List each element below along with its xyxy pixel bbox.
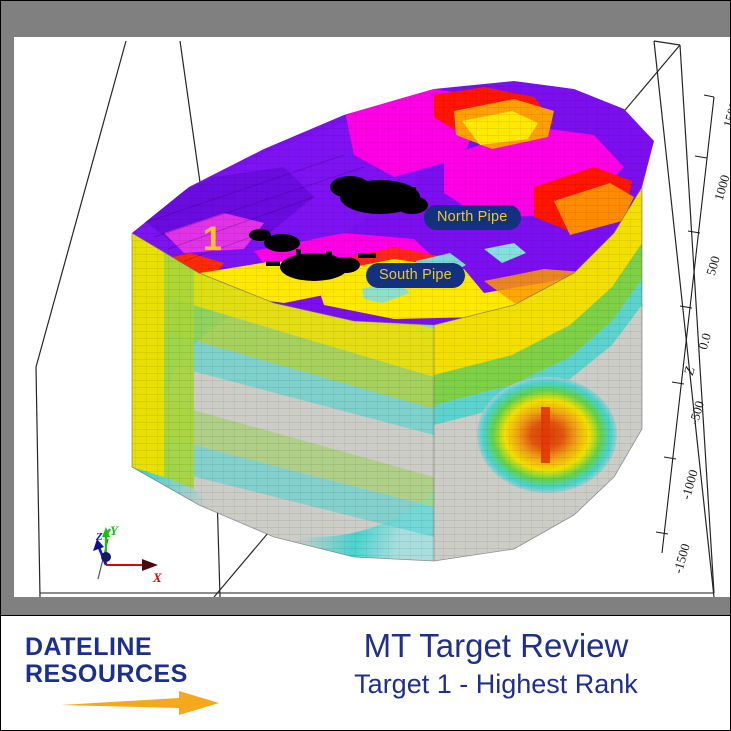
brand-line-1: DATELINE [25, 634, 265, 661]
triad-origin [101, 552, 111, 562]
block-model-graphic [14, 37, 731, 597]
triad-y-label: Y [110, 523, 118, 539]
annotation-north-pipe[interactable]: North Pipe [424, 205, 521, 230]
annotation-south-pipe[interactable]: South Pipe [366, 263, 465, 288]
target-number-label: 1 [203, 222, 222, 256]
triad-z-label: Z [96, 531, 103, 543]
page-title: MT Target Review [286, 626, 706, 666]
slide-title-block: MT Target Review Target 1 - Highest Rank [286, 626, 706, 702]
triad-x-label: X [153, 570, 162, 586]
slide-canvas: 1500 1000 500 0.0 -500 -1000 -1500 Z Nor… [0, 0, 731, 731]
figure-frame: 1500 1000 500 0.0 -500 -1000 -1500 Z Nor… [1, 1, 731, 615]
brand-arrow-icon [61, 690, 221, 716]
slide-footer: DATELINE RESOURCES MT Target Review Targ… [1, 615, 731, 731]
figure-plot-area: 1500 1000 500 0.0 -500 -1000 -1500 Z Nor… [14, 37, 731, 597]
page-subtitle: Target 1 - Highest Rank [286, 666, 706, 702]
brand-line-2: RESOURCES [25, 661, 265, 688]
company-logo: DATELINE RESOURCES [25, 634, 265, 688]
